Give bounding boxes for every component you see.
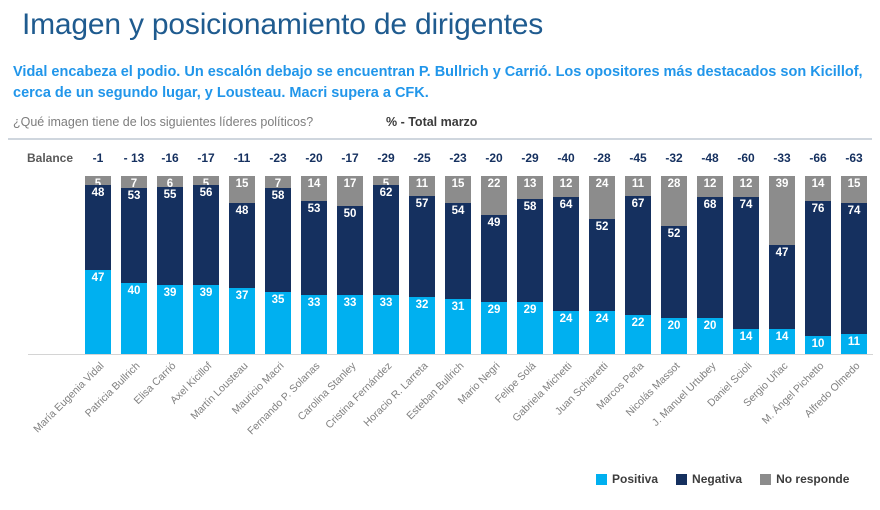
bar-segment-no-responde[interactable]: 17	[337, 176, 363, 206]
bar-column[interactable]: 147610	[805, 176, 831, 354]
bar-value-label: 50	[337, 208, 363, 221]
bar-segment-negativa[interactable]: 52	[589, 219, 615, 312]
bar-value-label: 11	[625, 178, 651, 191]
balance-value: -25	[402, 151, 442, 165]
balance-value: -23	[438, 151, 478, 165]
bar-segment-negativa[interactable]: 47	[769, 245, 795, 329]
bar-value-label: 39	[193, 287, 219, 300]
bar-segment-no-responde[interactable]: 5	[373, 176, 399, 185]
bar-segment-positiva[interactable]: 24	[553, 311, 579, 354]
bar-segment-positiva[interactable]: 31	[445, 299, 471, 354]
bar-column[interactable]: 285220	[661, 176, 687, 354]
legend-no-responde[interactable]: No responde	[760, 472, 849, 486]
bar-segment-negativa[interactable]: 64	[553, 197, 579, 311]
stacked-bar-chart: 5484775340655395563915483775835145333175…	[0, 176, 880, 354]
bar-value-label: 64	[553, 199, 579, 212]
bar-segment-negativa[interactable]: 55	[157, 187, 183, 285]
bar-column[interactable]: 224929	[481, 176, 507, 354]
bar-value-label: 33	[301, 297, 327, 310]
bar-value-label: 17	[337, 178, 363, 191]
bar-segment-negativa[interactable]: 68	[697, 197, 723, 318]
bar-value-label: 13	[517, 178, 543, 191]
bar-value-label: 74	[841, 205, 867, 218]
balance-value: -17	[330, 151, 370, 165]
bar-segment-no-responde[interactable]: 5	[193, 176, 219, 185]
survey-question: ¿Qué imagen tiene de los siguientes líde…	[13, 115, 313, 129]
bar-segment-positiva[interactable]: 11	[841, 334, 867, 354]
bar-value-label: 14	[769, 331, 795, 344]
bar-segment-positiva[interactable]: 37	[229, 288, 255, 354]
bar-segment-positiva[interactable]: 39	[157, 285, 183, 354]
bar-column[interactable]: 126424	[553, 176, 579, 354]
bar-segment-negativa[interactable]: 50	[337, 206, 363, 295]
balance-value: -16	[150, 151, 190, 165]
bar-value-label: 11	[841, 336, 867, 349]
balance-value: -33	[762, 151, 802, 165]
bar-segment-negativa[interactable]: 62	[373, 185, 399, 295]
bar-value-label: 15	[841, 178, 867, 191]
bar-segment-positiva[interactable]: 10	[805, 336, 831, 354]
balance-value: -40	[546, 151, 586, 165]
balance-value: -45	[618, 151, 658, 165]
bar-value-label: 40	[121, 285, 147, 298]
bar-segment-negativa[interactable]: 76	[805, 201, 831, 336]
legend-swatch-icon	[596, 474, 607, 485]
balance-value: -17	[186, 151, 226, 165]
bar-segment-no-responde[interactable]: 15	[445, 176, 471, 203]
bar-segment-negativa[interactable]: 48	[85, 185, 111, 270]
bar-column[interactable]: 75835	[265, 176, 291, 354]
bar-segment-positiva[interactable]: 35	[265, 292, 291, 354]
bar-column[interactable]: 245224	[589, 176, 615, 354]
bar-segment-positiva[interactable]: 20	[661, 318, 687, 354]
bar-value-label: 22	[625, 317, 651, 330]
bar-segment-negativa[interactable]: 54	[445, 203, 471, 299]
balance-value: -28	[582, 151, 622, 165]
chart-baseline	[28, 354, 873, 355]
balance-value: -1	[78, 151, 118, 165]
bar-value-label: 68	[697, 199, 723, 212]
bar-value-label: 58	[517, 201, 543, 214]
bar-segment-positiva[interactable]: 24	[589, 311, 615, 354]
bar-column[interactable]: 55639	[193, 176, 219, 354]
bar-segment-positiva[interactable]: 33	[373, 295, 399, 354]
bar-value-label: 53	[121, 190, 147, 203]
total-period-label: % - Total marzo	[386, 115, 477, 129]
bar-segment-negativa[interactable]: 56	[193, 185, 219, 285]
balance-value: - 13	[114, 151, 154, 165]
bar-segment-no-responde[interactable]: 5	[85, 176, 111, 185]
bar-value-label: 20	[661, 320, 687, 333]
bar-segment-positiva[interactable]: 29	[481, 302, 507, 354]
balance-value: -20	[474, 151, 514, 165]
bar-segment-positiva[interactable]: 39	[193, 285, 219, 354]
bar-segment-negativa[interactable]: 57	[409, 196, 435, 297]
bar-value-label: 22	[481, 178, 507, 191]
bar-value-label: 11	[409, 178, 435, 191]
bar-value-label: 62	[373, 187, 399, 200]
balance-row: Balance -1- 13-16-17-11-23-20-17-29-25-2…	[0, 150, 880, 170]
balance-value: -63	[834, 151, 874, 165]
bar-value-label: 33	[337, 297, 363, 310]
balance-value: -48	[690, 151, 730, 165]
bar-segment-no-responde[interactable]: 11	[409, 176, 435, 196]
legend-positiva[interactable]: Positiva	[596, 472, 658, 486]
bar-segment-no-responde[interactable]: 28	[661, 176, 687, 226]
bar-segment-negativa[interactable]: 67	[625, 196, 651, 315]
bar-column[interactable]: 115732	[409, 176, 435, 354]
bar-segment-negativa[interactable]: 48	[229, 203, 255, 288]
bar-value-label: 29	[481, 304, 507, 317]
bar-column[interactable]: 154837	[229, 176, 255, 354]
bar-segment-no-responde[interactable]: 12	[733, 176, 759, 197]
bar-value-label: 15	[445, 178, 471, 191]
legend-label: No responde	[776, 472, 849, 486]
bar-segment-no-responde[interactable]: 7	[121, 176, 147, 188]
legend-swatch-icon	[760, 474, 771, 485]
bar-column[interactable]: 127414	[733, 176, 759, 354]
legend-label: Positiva	[612, 472, 658, 486]
legend-negativa[interactable]: Negativa	[676, 472, 742, 486]
bar-value-label: 10	[805, 338, 831, 351]
bar-column[interactable]: 135829	[517, 176, 543, 354]
bar-segment-positiva[interactable]: 33	[337, 295, 363, 354]
subtitle-text: Vidal encabeza el podio. Un escalón deba…	[13, 62, 873, 104]
bar-segment-positiva[interactable]: 29	[517, 302, 543, 354]
bar-value-label: 15	[229, 178, 255, 191]
bar-value-label: 74	[733, 199, 759, 212]
bar-segment-negativa[interactable]: 74	[841, 203, 867, 335]
bar-column[interactable]: 155431	[445, 176, 471, 354]
bar-segment-no-responde[interactable]: 15	[229, 176, 255, 203]
bar-value-label: 48	[85, 187, 111, 200]
bar-value-label: 24	[589, 313, 615, 326]
bar-segment-no-responde[interactable]: 6	[157, 176, 183, 187]
bar-value-label: 52	[661, 228, 687, 241]
bar-value-label: 33	[373, 297, 399, 310]
bar-segment-no-responde[interactable]: 39	[769, 176, 795, 245]
page-title: Imagen y posicionamiento de dirigentes	[22, 8, 543, 42]
bar-value-label: 56	[193, 187, 219, 200]
bar-segment-negativa[interactable]: 58	[265, 188, 291, 291]
bar-segment-no-responde[interactable]: 12	[553, 176, 579, 197]
bar-segment-no-responde[interactable]: 14	[805, 176, 831, 201]
bar-value-label: 24	[589, 178, 615, 191]
bar-column[interactable]: 54847	[85, 176, 111, 354]
bar-value-label: 39	[769, 178, 795, 191]
balance-value: -32	[654, 151, 694, 165]
bar-segment-no-responde[interactable]: 15	[841, 176, 867, 203]
bar-segment-negativa[interactable]: 53	[121, 188, 147, 282]
bar-value-label: 12	[697, 178, 723, 191]
bar-segment-negativa[interactable]: 49	[481, 215, 507, 302]
legend-label: Negativa	[692, 472, 742, 486]
question-row: ¿Qué imagen tiene de los siguientes líde…	[13, 115, 873, 133]
bar-column[interactable]: 157411	[841, 176, 867, 354]
bar-segment-no-responde[interactable]: 12	[697, 176, 723, 197]
bar-value-label: 35	[265, 294, 291, 307]
bar-segment-positiva[interactable]: 47	[85, 270, 111, 354]
bar-value-label: 29	[517, 304, 543, 317]
bar-column[interactable]: 145333	[301, 176, 327, 354]
bar-value-label: 48	[229, 205, 255, 218]
bar-segment-no-responde[interactable]: 24	[589, 176, 615, 219]
bar-value-label: 57	[409, 198, 435, 211]
balance-value: -29	[510, 151, 550, 165]
bar-segment-positiva[interactable]: 32	[409, 297, 435, 354]
bar-value-label: 67	[625, 198, 651, 211]
bar-column[interactable]: 394714	[769, 176, 795, 354]
bar-column[interactable]: 126820	[697, 176, 723, 354]
bar-column[interactable]: 175033	[337, 176, 363, 354]
bar-segment-negativa[interactable]: 58	[517, 199, 543, 302]
bar-value-label: 12	[553, 178, 579, 191]
bar-column[interactable]: 65539	[157, 176, 183, 354]
legend-swatch-icon	[676, 474, 687, 485]
bar-value-label: 32	[409, 299, 435, 312]
bar-value-label: 14	[805, 178, 831, 191]
balance-value: -66	[798, 151, 838, 165]
bar-value-label: 49	[481, 217, 507, 230]
bar-value-label: 14	[301, 178, 327, 191]
bar-value-label: 39	[157, 287, 183, 300]
bar-segment-negativa[interactable]: 53	[301, 201, 327, 295]
bar-value-label: 28	[661, 178, 687, 191]
bar-value-label: 58	[265, 190, 291, 203]
balance-value: -11	[222, 151, 262, 165]
balance-value: -20	[294, 151, 334, 165]
bar-column[interactable]: 75340	[121, 176, 147, 354]
bar-segment-negativa[interactable]: 52	[661, 226, 687, 319]
bar-segment-positiva[interactable]: 22	[625, 315, 651, 354]
bar-segment-positiva[interactable]: 14	[769, 329, 795, 354]
bar-value-label: 55	[157, 189, 183, 202]
balance-value: -60	[726, 151, 766, 165]
bar-value-label: 76	[805, 203, 831, 216]
balance-label: Balance	[27, 151, 73, 165]
bar-segment-no-responde[interactable]: 13	[517, 176, 543, 199]
bar-segment-positiva[interactable]: 20	[697, 318, 723, 354]
bar-segment-negativa[interactable]: 74	[733, 197, 759, 329]
bar-segment-no-responde[interactable]: 7	[265, 176, 291, 188]
bar-value-label: 37	[229, 290, 255, 303]
bar-column[interactable]: 116722	[625, 176, 651, 354]
bar-value-label: 14	[733, 331, 759, 344]
bar-value-label: 47	[769, 247, 795, 260]
slide-root: Imagen y posicionamiento de dirigentes V…	[0, 0, 880, 495]
balance-value: -23	[258, 151, 298, 165]
bar-value-label: 24	[553, 313, 579, 326]
bar-value-label: 52	[589, 221, 615, 234]
bar-segment-no-responde[interactable]: 11	[625, 176, 651, 196]
bar-column[interactable]: 56233	[373, 176, 399, 354]
header-divider	[8, 138, 872, 140]
bar-value-label: 53	[301, 203, 327, 216]
chart-legend: PositivaNegativaNo responde	[596, 470, 849, 488]
bar-segment-positiva[interactable]: 33	[301, 295, 327, 354]
bar-value-label: 12	[733, 178, 759, 191]
bar-value-label: 31	[445, 301, 471, 314]
bar-segment-positiva[interactable]: 40	[121, 283, 147, 354]
category-axis-labels: María Eugenia VidalPatricia BullrichElis…	[0, 356, 880, 466]
balance-value: -29	[366, 151, 406, 165]
bar-segment-no-responde[interactable]: 14	[301, 176, 327, 201]
bar-value-label: 20	[697, 320, 723, 333]
bar-segment-positiva[interactable]: 14	[733, 329, 759, 354]
bar-segment-no-responde[interactable]: 22	[481, 176, 507, 215]
bar-value-label: 47	[85, 272, 111, 285]
bar-value-label: 54	[445, 205, 471, 218]
